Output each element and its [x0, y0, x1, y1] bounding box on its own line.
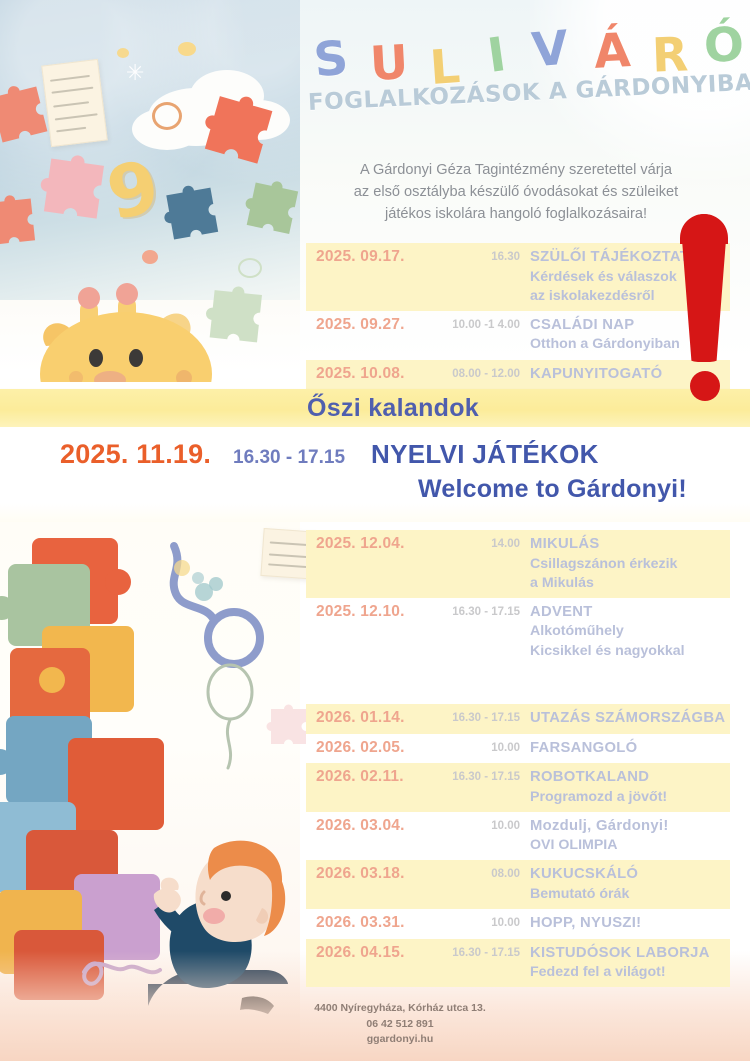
intro-text: A Gárdonyi Géza Tagintézmény szeretettel… — [306, 160, 726, 226]
poster-title-block: SULIVÁRÓ FOGLALKOZÁSOK A GÁRDONYIBAN — [300, 18, 740, 138]
event-info: ROBOTKALANDProgramozd a jövőt! — [520, 768, 730, 807]
title-letter-ó: Ó — [703, 21, 745, 69]
event-info: ADVENTAlkotóműhelyKicsikkel és nagyokkal — [520, 603, 730, 661]
event-time: 10.00 — [424, 739, 520, 754]
balloon-outline-decor — [196, 662, 266, 777]
event-date: 2025. 12.10. — [316, 603, 424, 621]
puzzle-piece — [234, 169, 308, 243]
event-subtitle-1: Alkotóműhely — [530, 622, 730, 641]
event-row: 2026. 01.14.16.30 - 17.15UTAZÁS SZÁMORSZ… — [306, 704, 730, 734]
event-subtitle-1: Bemutató órák — [530, 885, 730, 904]
event-subtitle-2: a Mikulás — [530, 574, 730, 593]
event-title: KUKUCSKÁLÓ — [530, 865, 730, 885]
event-title: FARSANGOLÓ — [530, 739, 730, 759]
event-subtitle-1: Csillagszánon érkezik — [530, 555, 730, 574]
schedule-top: 2025. 09.17.16.30SZÜLŐI TÁJÉKOZTATÓKérdé… — [306, 243, 730, 389]
event-info: UTAZÁS SZÁMORSZÁGBA — [520, 709, 730, 729]
event-row: 2025. 09.17.16.30SZÜLŐI TÁJÉKOZTATÓKérdé… — [306, 243, 730, 311]
event-subtitle-1: Programozd a jövőt! — [530, 788, 730, 807]
title-letter-i: I — [485, 31, 509, 80]
event-date: 2026. 03.18. — [316, 865, 424, 883]
schedule-bottom: 2026. 01.14.16.30 - 17.15UTAZÁS SZÁMORSZ… — [306, 704, 730, 987]
dot — [178, 42, 196, 56]
footer-phone: 06 42 512 891 — [250, 1017, 550, 1032]
dot — [117, 48, 129, 58]
event-row: 2026. 04.15.16.30 - 17.15KISTUDÓSOK LABO… — [306, 939, 730, 988]
intro-line-1: A Gárdonyi Géza Tagintézmény szeretettel… — [306, 160, 726, 182]
event-info: KUKUCSKÁLÓBemutató órák — [520, 865, 730, 904]
event-time: 16.30 - 17.15 — [424, 603, 520, 618]
featured-event-time: 16.30 - 17.15 — [233, 447, 345, 469]
event-title: ROBOTKALAND — [530, 768, 730, 788]
cloud-ring-icon — [152, 102, 182, 130]
event-time: 16.30 - 17.15 — [424, 768, 520, 783]
event-time: 08.00 - 12.00 — [424, 365, 520, 380]
event-title: ADVENT — [530, 603, 730, 623]
event-subtitle-1: OVI OLIMPIA — [530, 836, 730, 855]
event-time: 08.00 — [424, 865, 520, 880]
event-time: 16.30 - 17.15 — [424, 944, 520, 959]
event-title: MIKULÁS — [530, 535, 730, 555]
event-row: 2026. 03.31.10.00HOPP, NYUSZI! — [306, 909, 730, 939]
event-info: HOPP, NYUSZI! — [520, 914, 730, 934]
banner-oszi-kalandok: Őszi kalandok — [0, 389, 750, 427]
event-date: 2026. 03.04. — [316, 817, 424, 835]
event-time: 10.00 — [424, 914, 520, 929]
puzzle-piece — [153, 175, 227, 249]
event-date: 2026. 02.11. — [316, 768, 424, 786]
event-time: 16.30 — [424, 248, 520, 263]
featured-event-date: 2025. 11.19. — [60, 439, 211, 470]
footer-address: 4400 Nyíregyháza, Kórház utca 13. — [250, 1001, 550, 1016]
exclamation-mark-decor — [672, 214, 736, 394]
event-date: 2025. 10.08. — [316, 365, 424, 383]
event-time: 10.00 -1 4.00 — [424, 316, 520, 331]
poster: ✳ 9 — [0, 0, 750, 1061]
event-date: 2025. 09.17. — [316, 248, 424, 266]
event-row: 2026. 02.05.10.00FARSANGOLÓ — [306, 734, 730, 764]
title-letter-á: Á — [593, 27, 632, 76]
event-date: 2026. 01.14. — [316, 709, 424, 727]
event-info: Mozdulj, Gárdonyi!OVI OLIMPIA — [520, 817, 730, 856]
giraffe-illustration — [18, 262, 278, 387]
event-title: UTAZÁS SZÁMORSZÁGBA — [530, 709, 730, 729]
title-letter-u: U — [369, 39, 410, 88]
event-info: KISTUDÓSOK LABORJAFedezd fel a világot! — [520, 944, 730, 983]
event-title: Mozdulj, Gárdonyi! — [530, 817, 730, 837]
event-title: KISTUDÓSOK LABORJA — [530, 944, 730, 964]
event-info: MIKULÁSCsillagszánon érkezika Mikulás — [520, 535, 730, 593]
intro-line-2: az első osztályba készülő óvodásokat és … — [306, 182, 726, 204]
sparkle-icon: ✳ — [126, 62, 144, 84]
puzzle-piece — [29, 143, 115, 229]
event-date: 2025. 09.27. — [316, 316, 424, 334]
puzzle-piece — [262, 700, 312, 750]
featured-event-subtitle: Welcome to Gárdonyi! — [0, 475, 750, 504]
event-row: 2025. 12.10.16.30 - 17.15ADVENTAlkotóműh… — [306, 598, 730, 666]
event-row: 2026. 02.11.16.30 - 17.15ROBOTKALANDProg… — [306, 763, 730, 812]
title-letter-s: S — [312, 34, 351, 84]
event-date: 2026. 02.05. — [316, 739, 424, 757]
event-date: 2026. 03.31. — [316, 914, 424, 932]
event-row: 2025. 12.04.14.00MIKULÁSCsillagszánon ér… — [306, 530, 730, 598]
schedule-mid: 2025. 12.04.14.00MIKULÁSCsillagszánon ér… — [306, 530, 730, 666]
event-row: 2026. 03.04.10.00Mozdulj, Gárdonyi!OVI O… — [306, 812, 730, 861]
puzzle-piece — [0, 187, 43, 253]
event-row: 2025. 09.27.10.00 -1 4.00CSALÁDI NAPOtth… — [306, 311, 730, 360]
event-date: 2026. 04.15. — [316, 944, 424, 962]
event-info: FARSANGOLÓ — [520, 739, 730, 759]
banner-oszi-label: Őszi kalandok — [307, 394, 479, 423]
banner-november-event: 2025. 11.19. 16.30 - 17.15 NYELVI JÁTÉKO… — [0, 427, 750, 522]
event-row: 2025. 10.08.08.00 - 12.00KAPUNYITOGATÓ — [306, 360, 730, 390]
event-time: 14.00 — [424, 535, 520, 550]
event-time: 10.00 — [424, 817, 520, 832]
title-letter-v: V — [530, 25, 570, 75]
featured-event-title: NYELVI JÁTÉKOK — [371, 439, 599, 470]
event-date: 2025. 12.04. — [316, 535, 424, 553]
event-subtitle-2: Kicsikkel és nagyokkal — [530, 642, 730, 661]
footer-contact: 4400 Nyíregyháza, Kórház utca 13. 06 42 … — [250, 1001, 550, 1047]
intro-line-3: játékos iskolára hangoló foglalkozásaira… — [306, 204, 726, 226]
event-time: 16.30 - 17.15 — [424, 709, 520, 724]
event-subtitle-1: Fedezd fel a világot! — [530, 963, 730, 982]
footer-web: ggardonyi.hu — [250, 1032, 550, 1047]
event-title: HOPP, NYUSZI! — [530, 914, 730, 934]
event-row: 2026. 03.18.08.00KUKUCSKÁLÓBemutató órák — [306, 860, 730, 909]
